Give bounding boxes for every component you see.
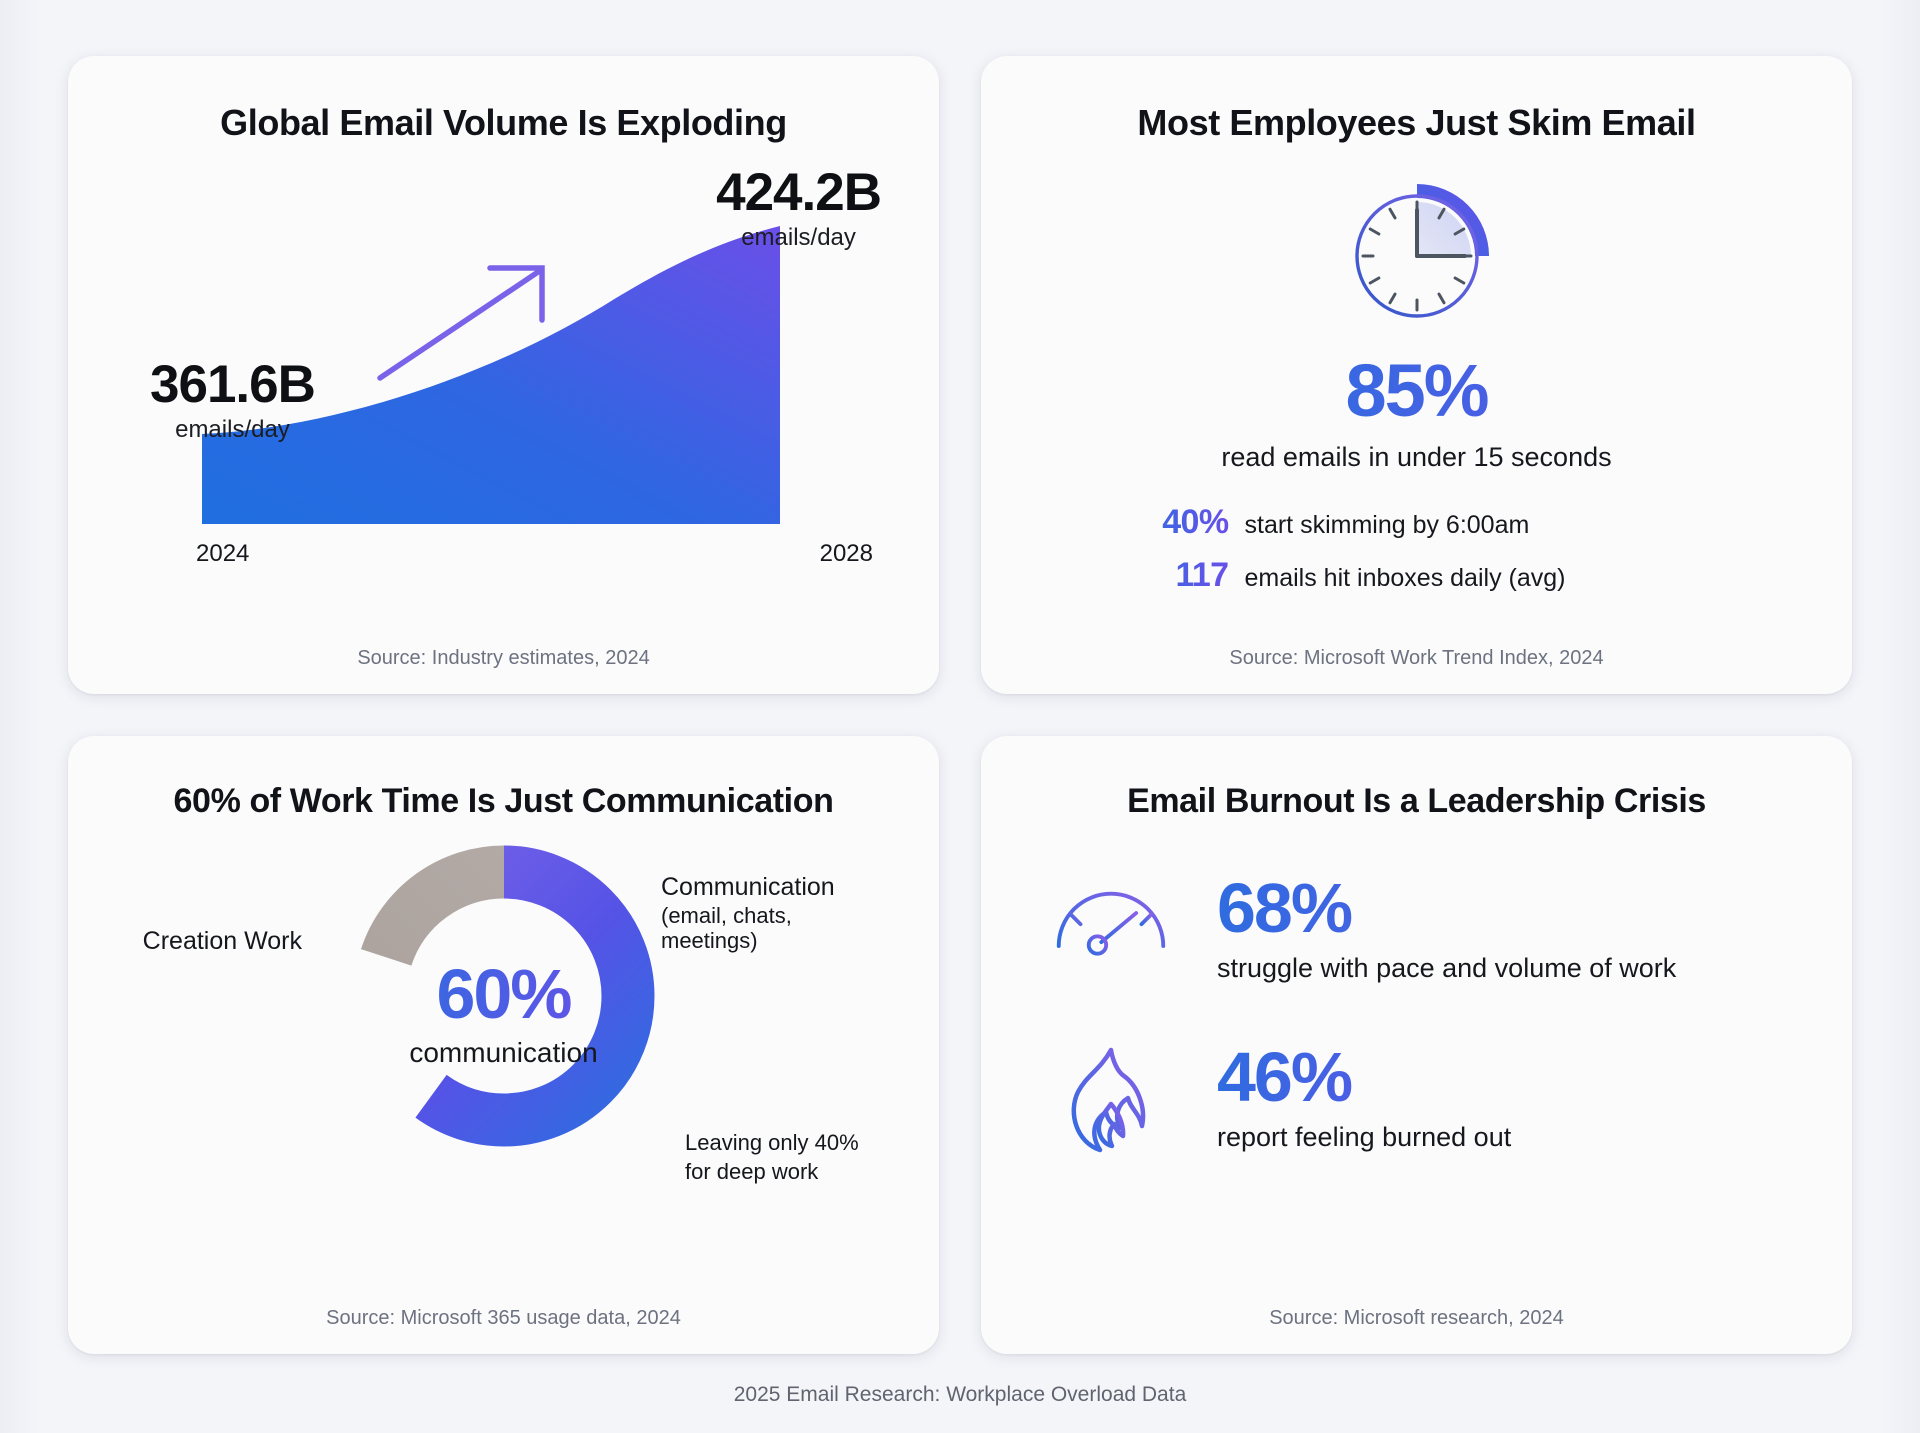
card-title-burnout: Email Burnout Is a Leadership Crisis <box>1021 782 1812 821</box>
card-title-skim: Most Employees Just Skim Email <box>1021 102 1812 144</box>
list-item: 68% struggle with pace and volume of wor… <box>1051 873 1812 984</box>
skim-headline-pct: 85% <box>1021 354 1812 428</box>
source-communication: Source: Microsoft 365 usage data, 2024 <box>68 1307 939 1330</box>
volume-start-value: 361.6B <box>150 358 315 412</box>
volume-end-callout: 424.2B emails/day <box>716 166 881 252</box>
growth-arrow-icon <box>370 258 560 388</box>
donut-center-pct: 60% <box>384 959 624 1029</box>
source-volume: Source: Industry estimates, 2024 <box>68 647 939 670</box>
skim-stat-list: 40% start skimming by 6:00am 117 emails … <box>1021 503 1812 595</box>
card-communication-time: 60% of Work Time Is Just Communication <box>68 736 939 1354</box>
card-grid: Global Email Volume Is Exploding <box>68 56 1852 1354</box>
burnout-stat-list: 68% struggle with pace and volume of wor… <box>1021 873 1812 1160</box>
card-email-volume: Global Email Volume Is Exploding <box>68 56 939 694</box>
volume-start-unit: emails/day <box>150 416 315 444</box>
stat-value: 117 <box>1137 556 1229 595</box>
clock-icon <box>1329 170 1505 342</box>
stat-label: start skimming by 6:00am <box>1245 511 1530 540</box>
list-item: 117 emails hit inboxes daily (avg) <box>1137 556 1697 595</box>
source-burnout: Source: Microsoft research, 2024 <box>981 1307 1852 1330</box>
infographic-page: Global Email Volume Is Exploding <box>0 0 1920 1433</box>
stat-value: 40% <box>1137 503 1229 542</box>
stat-label: emails hit inboxes daily (avg) <box>1245 564 1566 593</box>
card-skim-email: Most Employees Just Skim Email <box>981 56 1852 694</box>
area-chart-volume: 361.6B emails/day 424.2B emails/day 2024… <box>108 148 899 578</box>
donut-chart-communication: 60% communication Creation Work Communic… <box>108 831 899 1231</box>
list-item: 40% start skimming by 6:00am <box>1137 503 1697 542</box>
burnout-desc: struggle with pace and volume of work <box>1217 952 1676 985</box>
page-footer: 2025 Email Research: Workplace Overload … <box>0 1383 1920 1407</box>
volume-end-unit: emails/day <box>716 224 881 252</box>
volume-start-callout: 361.6B emails/day <box>150 358 315 444</box>
donut-label-creation-work: Creation Work <box>112 927 302 956</box>
volume-end-value: 424.2B <box>716 166 881 220</box>
donut-center-label: 60% communication <box>384 959 624 1069</box>
source-skim: Source: Microsoft Work Trend Index, 2024 <box>981 647 1852 670</box>
flame-icon-wrap <box>1051 1042 1171 1160</box>
x-tick-end: 2028 <box>820 540 873 568</box>
donut-label-communication-main: Communication <box>661 873 835 901</box>
burnout-value: 68% <box>1217 875 1676 942</box>
donut-annotation-deep-work: Leaving only 40% for deep work <box>685 1129 885 1186</box>
skim-headline-caption: read emails in under 15 seconds <box>1021 442 1812 473</box>
gauge-icon <box>1051 873 1171 957</box>
x-axis-labels: 2024 2028 <box>196 540 873 568</box>
flame-icon <box>1056 1042 1166 1160</box>
x-tick-start: 2024 <box>196 540 249 568</box>
burnout-text-block: 46% report feeling burned out <box>1217 1042 1511 1153</box>
burnout-text-block: 68% struggle with pace and volume of wor… <box>1217 873 1676 984</box>
donut-label-communication: Communication (email, chats, meetings) <box>661 873 891 954</box>
clock-illustration <box>1021 170 1812 342</box>
donut-label-communication-sub: (email, chats, meetings) <box>661 903 891 955</box>
donut-center-sub: communication <box>384 1037 624 1069</box>
gauge-icon-wrap <box>1051 873 1171 957</box>
card-title-communication: 60% of Work Time Is Just Communication <box>108 782 899 821</box>
card-email-burnout: Email Burnout Is a Leadership Crisis <box>981 736 1852 1354</box>
card-title-volume: Global Email Volume Is Exploding <box>108 102 899 144</box>
list-item: 46% report feeling burned out <box>1051 1042 1812 1160</box>
burnout-value: 46% <box>1217 1044 1511 1111</box>
burnout-desc: report feeling burned out <box>1217 1121 1511 1154</box>
